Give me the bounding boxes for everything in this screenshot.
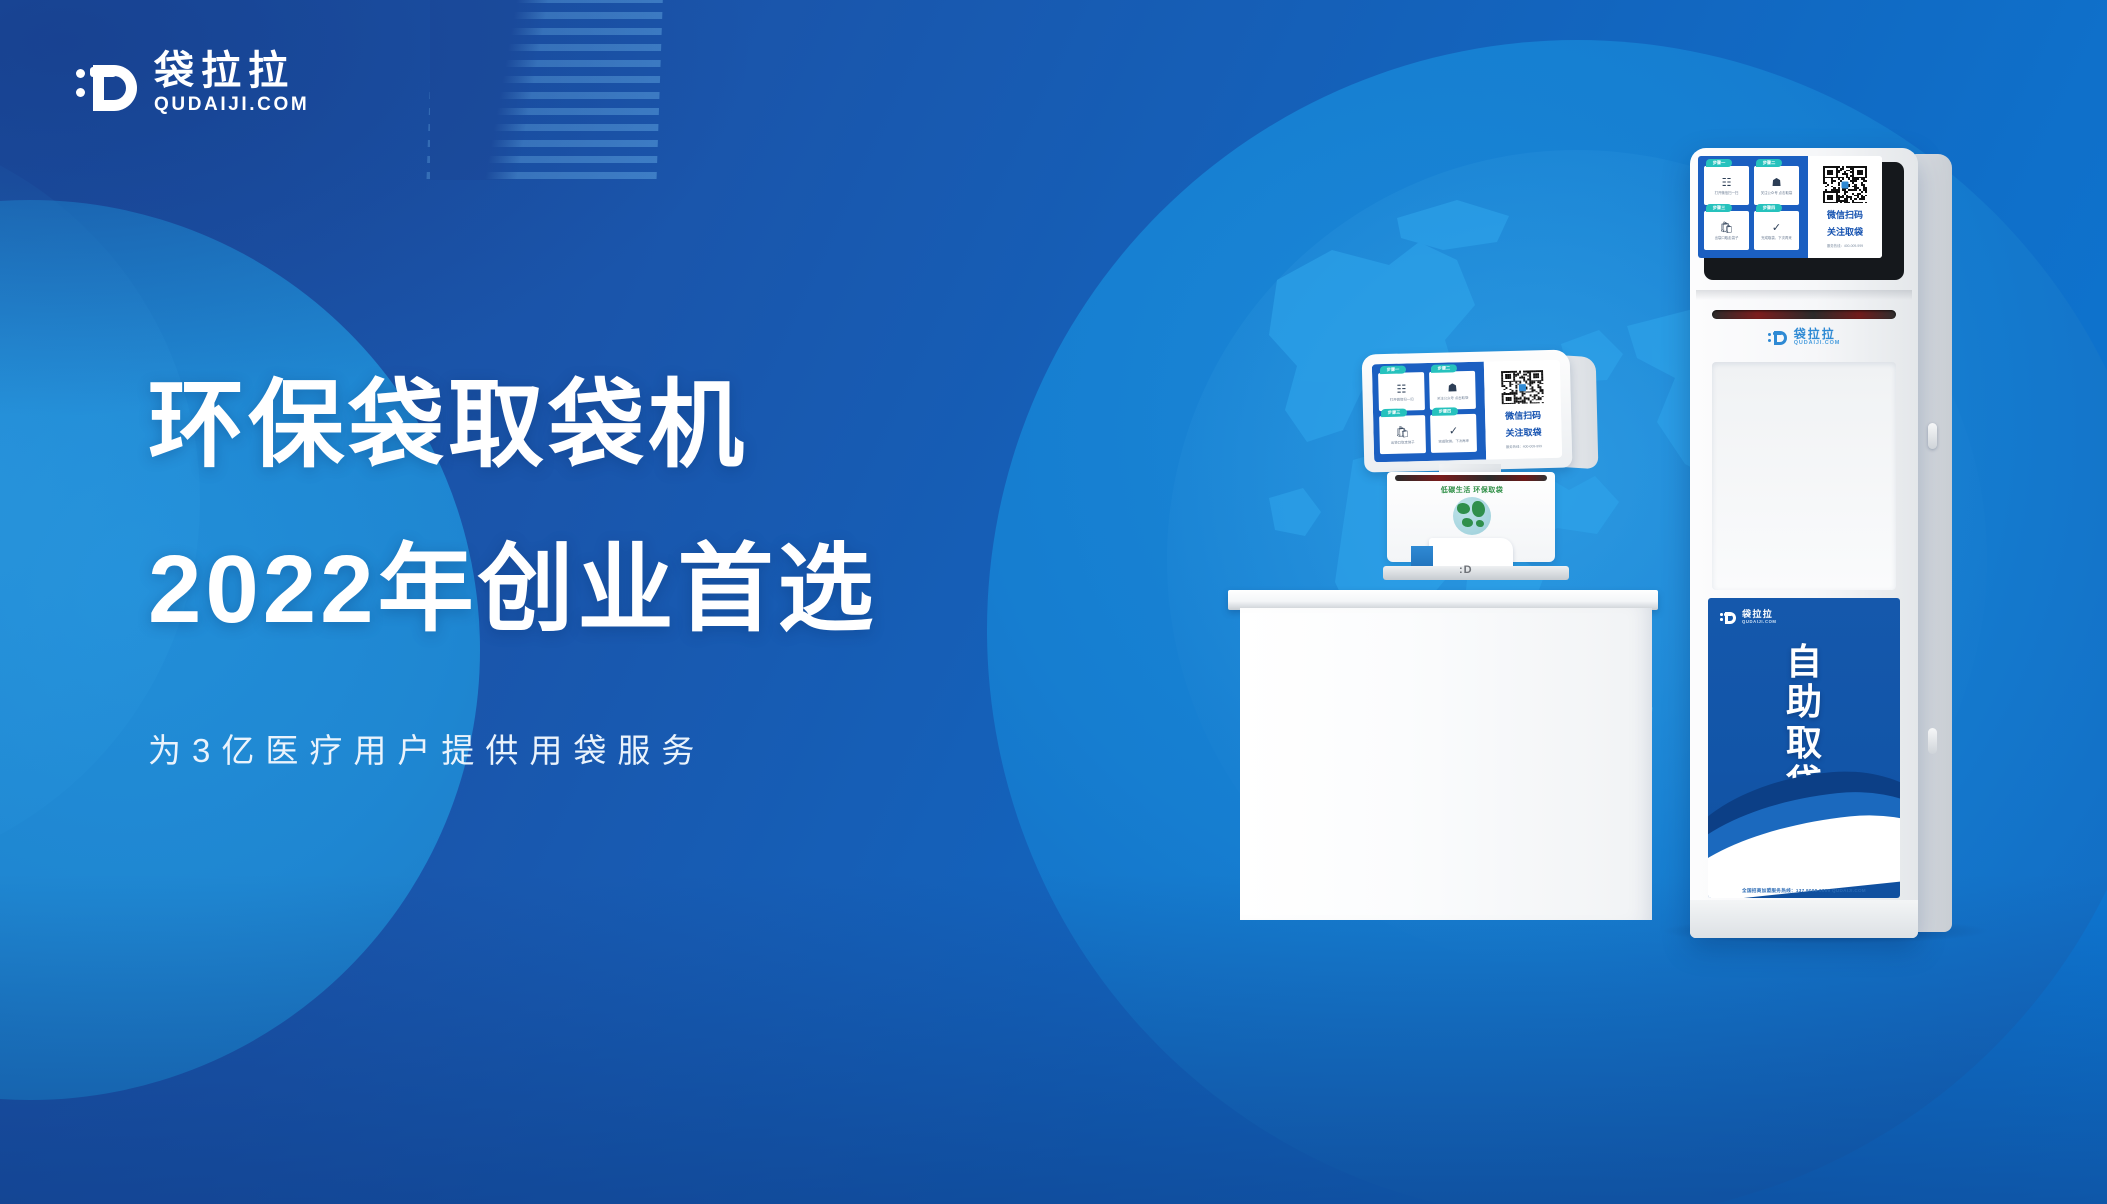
step-card[interactable]: 步骤一 ☷ 打开微信扫一扫: [1704, 166, 1749, 205]
qr-code-icon[interactable]: [1823, 166, 1867, 204]
counter-body: [1240, 608, 1652, 920]
step-tag: 步骤一: [1706, 159, 1732, 167]
eco-slogan: 低碳生活 环保取袋: [1399, 485, 1545, 495]
floor-kiosk-handle-upper[interactable]: [1928, 423, 1937, 449]
step-card[interactable]: 步骤一 ☷ 打开微信扫一扫: [1378, 372, 1425, 411]
horizontal-stripes-decor: [427, 0, 664, 180]
scan-qr-icon: ☷: [1380, 381, 1422, 397]
brand-name-cn: 袋拉拉: [1794, 328, 1841, 340]
brand-domain: QUDAIJI.COM: [1794, 340, 1841, 348]
step-tag: 步骤二: [1756, 159, 1782, 167]
floor-kiosk-head-shadow: [1696, 290, 1912, 300]
step-caption: 打开微信扫一扫: [1381, 397, 1423, 402]
qr-label-2: 关注取袋: [1827, 227, 1863, 238]
headline-block: 环保袋取袋机 2022年创业首选 为3亿医疗用户提供用袋服务: [148, 378, 878, 772]
brand-logo[interactable]: 袋拉拉 QUDAIJI.COM: [76, 50, 309, 116]
step-caption: 完成取袋，下次再来: [1433, 439, 1475, 444]
poster-title-char: 助: [1708, 682, 1900, 722]
floor-kiosk-side: [1912, 154, 1952, 932]
qr-center-logo: [1842, 181, 1849, 188]
promo-banner: 袋拉拉 QUDAIJI.COM 环保袋取袋机 2022年创业首选 为3亿医疗用户…: [0, 0, 2107, 1204]
qr-center-logo: [1519, 384, 1526, 391]
step-card[interactable]: 步骤二 ☗ 关注公众号 点击取袋: [1429, 371, 1476, 410]
steps-panel: 步骤一 ☷ 打开微信扫一扫 步骤二 ☗ 关注公众号 点击取袋 步骤三 🛍 出袋口…: [1698, 156, 1808, 258]
scan-qr-icon: ☷: [1706, 175, 1747, 190]
step-caption: 打开微信扫一扫: [1706, 191, 1747, 195]
service-tel: 服务热线：400-009-999: [1827, 243, 1863, 248]
steps-panel: 步骤一 ☷ 打开微信扫一扫 步骤二 ☗ 关注公众号 点击取袋 步骤三 🛍 出袋口…: [1372, 362, 1486, 463]
earth-globe-icon: [1453, 497, 1491, 535]
desktop-kiosk-screen[interactable]: 步骤一 ☷ 打开微信扫一扫 步骤二 ☗ 关注公众号 点击取袋 步骤三 🛍 出袋口…: [1372, 360, 1562, 463]
step-tag: 步骤二: [1431, 364, 1457, 373]
headline-subtitle: 为3亿医疗用户提供用袋服务: [148, 724, 878, 772]
check-circle-icon: ✓: [1432, 423, 1474, 439]
step-caption: 完成取袋，下次再来: [1756, 236, 1797, 240]
follow-account-icon: ☗: [1431, 380, 1473, 396]
qr-label-1: 微信扫码: [1827, 210, 1863, 221]
qudaiji-d-mark-icon: [1768, 329, 1788, 347]
step-caption: 出袋口取走袋子: [1382, 440, 1424, 445]
poster-brand-logo: 袋拉拉 QUDAIJI.COM: [1720, 610, 1777, 625]
floor-standing-bag-dispenser[interactable]: 步骤一 ☷ 打开微信扫一扫 步骤二 ☗ 关注公众号 点击取袋 步骤三 🛍 出袋口…: [1690, 148, 1958, 938]
floor-dispense-slot: [1712, 310, 1896, 319]
headline-line-1: 环保袋取袋机: [148, 378, 878, 474]
service-tel: 服务热线：400-009-999: [1506, 443, 1542, 449]
step-tag: 步骤一: [1380, 365, 1406, 374]
floor-kiosk-brand: 袋拉拉 QUDAIJI.COM: [1690, 328, 1918, 348]
poster-title-char: 取: [1708, 723, 1900, 763]
headline-line-2: 2022年创业首选: [148, 542, 878, 638]
floor-kiosk-handle-lower[interactable]: [1928, 728, 1937, 754]
step-tag: 步骤四: [1432, 407, 1458, 416]
step-card[interactable]: 步骤四 ✓ 完成取袋，下次再来: [1430, 414, 1477, 453]
step-tag: 步骤四: [1756, 204, 1782, 212]
qudaiji-d-mark-icon: [1720, 610, 1737, 625]
qr-panel: 微信扫码 关注取袋 服务热线：400-009-999: [1484, 360, 1562, 460]
desktop-kiosk-logo-mark: :D: [1459, 564, 1473, 576]
step-card[interactable]: 步骤三 🛍 出袋口取走袋子: [1704, 211, 1749, 250]
qudaiji-d-mark-icon: [76, 54, 138, 112]
brand-name-cn: 袋拉拉: [1742, 610, 1777, 619]
floor-kiosk-upper-panel: [1712, 362, 1896, 590]
step-card[interactable]: 步骤四 ✓ 完成取袋，下次再来: [1754, 211, 1799, 250]
floor-kiosk-poster-panel: 袋拉拉 QUDAIJI.COM 自 助 取 袋 机 全国招商加盟服务热线：137…: [1708, 598, 1900, 898]
desktop-bag-dispenser[interactable]: 步骤一 ☷ 打开微信扫一扫 步骤二 ☗ 关注公众号 点击取袋 步骤三 🛍 出袋口…: [1355, 352, 1605, 602]
bag-icon: 🛍: [1381, 424, 1423, 440]
poster-title-char: 自: [1708, 642, 1900, 682]
qr-code-icon[interactable]: [1501, 370, 1544, 405]
qr-label-1: 微信扫码: [1505, 410, 1541, 422]
step-card[interactable]: 步骤三 🛍 出袋口取走袋子: [1379, 415, 1426, 454]
step-caption: 关注公众号 点击取袋: [1756, 191, 1797, 195]
step-caption: 关注公众号 点击取袋: [1432, 396, 1474, 401]
floor-kiosk-screen[interactable]: 步骤一 ☷ 打开微信扫一扫 步骤二 ☗ 关注公众号 点击取袋 步骤三 🛍 出袋口…: [1698, 156, 1882, 258]
follow-account-icon: ☗: [1756, 175, 1797, 190]
check-circle-icon: ✓: [1756, 220, 1797, 235]
brand-domain: QUDAIJI.COM: [154, 95, 309, 116]
step-caption: 出袋口取走袋子: [1706, 236, 1747, 240]
brand-domain: QUDAIJI.COM: [1742, 619, 1777, 625]
brand-name-cn: 袋拉拉: [154, 50, 309, 92]
qr-label-2: 关注取袋: [1505, 427, 1541, 439]
desktop-kiosk-base: [1383, 566, 1569, 580]
bag-icon: 🛍: [1706, 220, 1747, 235]
stripes-mask: [430, 0, 660, 180]
floor-kiosk-base: [1690, 900, 1918, 938]
step-tag: 步骤三: [1381, 408, 1407, 417]
step-card[interactable]: 步骤二 ☗ 关注公众号 点击取袋: [1754, 166, 1799, 205]
poster-footer-text: 全国招商加盟服务热线：137 9000 0009 QUDAIJI.COM: [1708, 888, 1900, 894]
desktop-dispense-slot: [1395, 475, 1547, 481]
qr-panel: 微信扫码 关注取袋 服务热线：400-009-999: [1808, 156, 1882, 258]
step-tag: 步骤三: [1706, 204, 1732, 212]
